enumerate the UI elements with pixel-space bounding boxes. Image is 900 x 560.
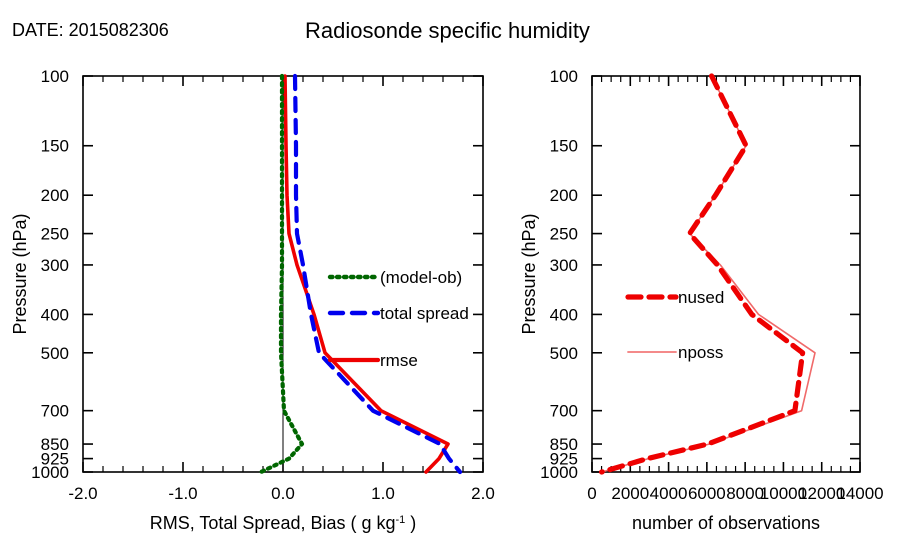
left-series-modelob (261, 76, 302, 472)
left-legend-label-2: rmse (380, 351, 418, 370)
right-ytick-label: 200 (550, 186, 578, 205)
right-xtick-label: 4000 (650, 484, 688, 503)
right-xtick-label: 8000 (726, 484, 764, 503)
right-xlabel: number of observations (632, 513, 820, 533)
right-series-nused (602, 76, 803, 472)
right-legend-label-0: nused (678, 288, 724, 307)
left-legend-label-0: (model-ob) (380, 268, 462, 287)
right-series-nposs (602, 76, 815, 472)
right-xtick-label: 0 (587, 484, 596, 503)
left-ytick-label: 1000 (31, 463, 69, 482)
right-xtick-label: 6000 (688, 484, 726, 503)
right-ytick-label: 1000 (540, 463, 578, 482)
left-ytick-label: 400 (41, 305, 69, 324)
left-xlabel: RMS, Total Spread, Bias ( g kg-1 ) (150, 513, 417, 533)
left-xtick-label: -1.0 (168, 484, 197, 503)
right-ytick-label: 250 (550, 225, 578, 244)
right-ytick-label: 300 (550, 256, 578, 275)
left-ytick-label: 150 (41, 137, 69, 156)
right-legend-label-1: nposs (678, 343, 723, 362)
left-ylabel: Pressure (hPa) (10, 213, 30, 334)
right-ytick-label: 100 (550, 67, 578, 86)
right-ytick-label: 400 (550, 305, 578, 324)
right-ylabel: Pressure (hPa) (519, 213, 539, 334)
right-ytick-label: 700 (550, 402, 578, 421)
left-xtick-label: 1.0 (371, 484, 395, 503)
right-ytick-label: 500 (550, 344, 578, 363)
left-ytick-label: 500 (41, 344, 69, 363)
right-xtick-label: 2000 (611, 484, 649, 503)
right-ytick-label: 150 (550, 137, 578, 156)
right-xtick-label: 14000 (836, 484, 883, 503)
left-ytick-label: 300 (41, 256, 69, 275)
figure-canvas: 1001502002503004005007008509251000-2.0-1… (0, 0, 900, 560)
left-ytick-label: 700 (41, 402, 69, 421)
left-ytick-label: 200 (41, 186, 69, 205)
left-xtick-label: 0.0 (271, 484, 295, 503)
left-xtick-label: -2.0 (68, 484, 97, 503)
left-ytick-label: 100 (41, 67, 69, 86)
chart-page: 1001502002503004005007008509251000-2.0-1… (0, 0, 900, 560)
left-xtick-label: 2.0 (471, 484, 495, 503)
left-ytick-label: 250 (41, 225, 69, 244)
left-legend-label-1: total spread (380, 304, 469, 323)
